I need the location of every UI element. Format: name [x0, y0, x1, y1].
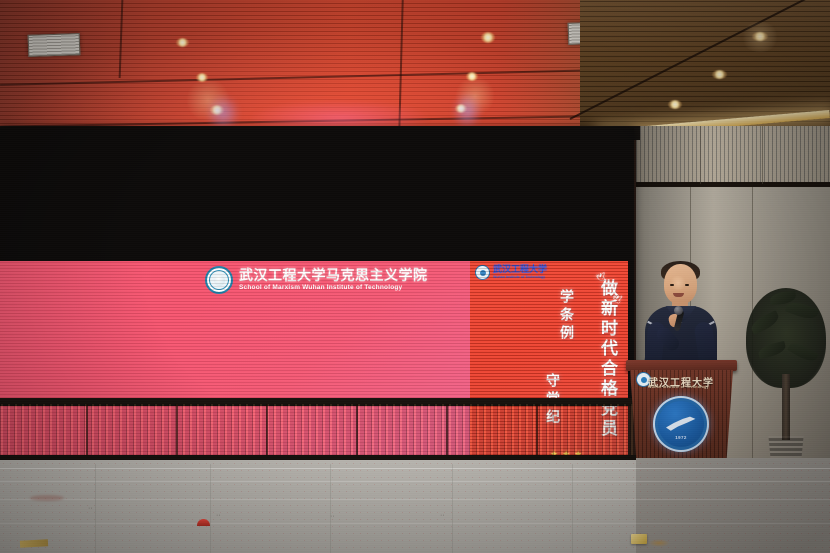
slide-header-title-cn: 武汉工程大学马克思主义学院 [239, 269, 428, 283]
downlight [668, 100, 682, 109]
downlight-glow [740, 22, 780, 52]
badge-inner [641, 377, 647, 383]
floor-texture [0, 460, 830, 553]
downlight [481, 32, 495, 43]
speaker-face-highlight [669, 276, 687, 290]
podium-name-en: Wuhan Institute of Technology [648, 385, 709, 389]
slide-header-title-en: School of Marxism Wuhan Institute of Tec… [239, 285, 428, 292]
university-emblem-icon: 1972 [653, 396, 709, 452]
floor-marking: ·· [440, 512, 445, 519]
banner-line-a: 学条例 [556, 289, 576, 343]
microphone-head [674, 306, 683, 315]
seal-inner [214, 275, 225, 286]
speaker-eye [685, 284, 689, 286]
presentation-hall-scene: 武汉工程大学马克思主义学院 School of Marxism Wuhan In… [0, 0, 830, 553]
ceiling-right-section [580, 0, 830, 132]
speaker-eye [670, 284, 674, 286]
emblem-swoosh [666, 416, 696, 432]
ceiling [0, 0, 830, 132]
marxism-school-seal-icon [205, 266, 233, 294]
wood-panel-seam [446, 404, 448, 460]
floor-object-red-cap [197, 519, 210, 526]
emblem-year: 1972 [653, 435, 709, 440]
floor-object-tape [20, 539, 48, 547]
floor-marking: ·· [216, 512, 221, 519]
wood-panel-seam [86, 404, 88, 460]
ceiling-vent [28, 33, 81, 57]
floor-scuff [30, 495, 64, 501]
wood-panel-seam [176, 404, 178, 460]
floor-tile-line [210, 464, 211, 553]
badge-inner [480, 270, 486, 276]
floor-tile-line [0, 481, 830, 482]
back-wall-wood-panel [0, 404, 640, 460]
plant-trunk [782, 374, 790, 440]
floor-tile-line [95, 464, 96, 553]
downlight [712, 70, 727, 79]
floor-marking: ·· [88, 505, 93, 512]
podium-top [626, 360, 737, 371]
floor-marking: ·· [330, 513, 335, 520]
floor-tile-line [0, 468, 830, 469]
banner-logo-text: 武汉工程大学 Wuhan Institute of Technology [493, 266, 547, 280]
floor-object-gold-card [631, 534, 647, 544]
potted-plant [744, 288, 826, 478]
wood-panel-seam [356, 404, 358, 460]
wood-panel-seam [266, 404, 268, 460]
banner-logo-cn: 武汉工程大学 [493, 266, 547, 275]
floor-tile-line [0, 523, 830, 524]
floor-tile-line [572, 464, 573, 553]
floor-tile-line [452, 464, 453, 553]
led-screen-frame: 武汉工程大学马克思主义学院 School of Marxism Wuhan In… [0, 128, 634, 400]
slide-header: 武汉工程大学马克思主义学院 School of Marxism Wuhan In… [205, 266, 465, 294]
stage-light-blue [452, 92, 482, 130]
wuhan-institute-technology-logo-icon [475, 265, 490, 280]
floor-tile-line [0, 499, 830, 500]
wood-panel-seam [536, 404, 538, 460]
dove-icon: 🕊 [611, 294, 622, 304]
banner-logo: 武汉工程大学 Wuhan Institute of Technology [475, 265, 547, 280]
downlight [176, 38, 189, 47]
banner-logo-en: Wuhan Institute of Technology [493, 276, 547, 280]
slide-header-text: 武汉工程大学马克思主义学院 School of Marxism Wuhan In… [239, 269, 428, 292]
floor-tile-line [330, 464, 331, 553]
floor-stain [648, 539, 670, 547]
